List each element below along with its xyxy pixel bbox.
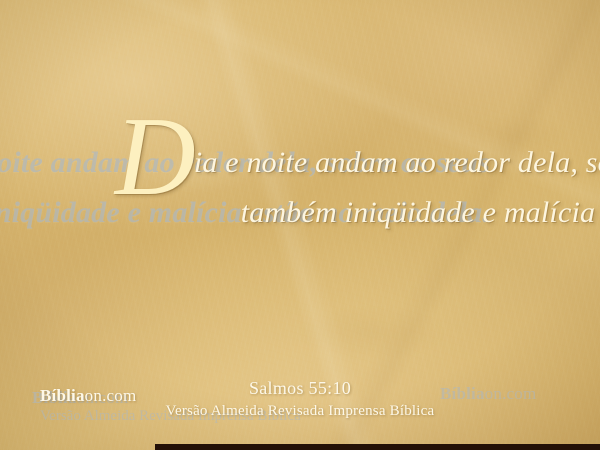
verse-body: ia e noite andam ao redor dela, sobre os… — [194, 146, 600, 229]
bottom-dark-bar — [155, 444, 600, 450]
verse-reference: Salmos 55:10 — [0, 378, 600, 399]
verse-dropcap: D — [115, 95, 194, 219]
bible-version-label: Versão Almeida Revisada Imprensa Bíblica — [0, 403, 600, 420]
verse-image-canvas: Dia e noite andam ao redor dela, sobre o… — [0, 0, 600, 450]
verse-text-main-layer: Dia e noite andam ao redor dela, sobre o… — [80, 0, 600, 288]
verse-attribution: Salmos 55:10 Versão Almeida Revisada Imp… — [0, 378, 600, 420]
